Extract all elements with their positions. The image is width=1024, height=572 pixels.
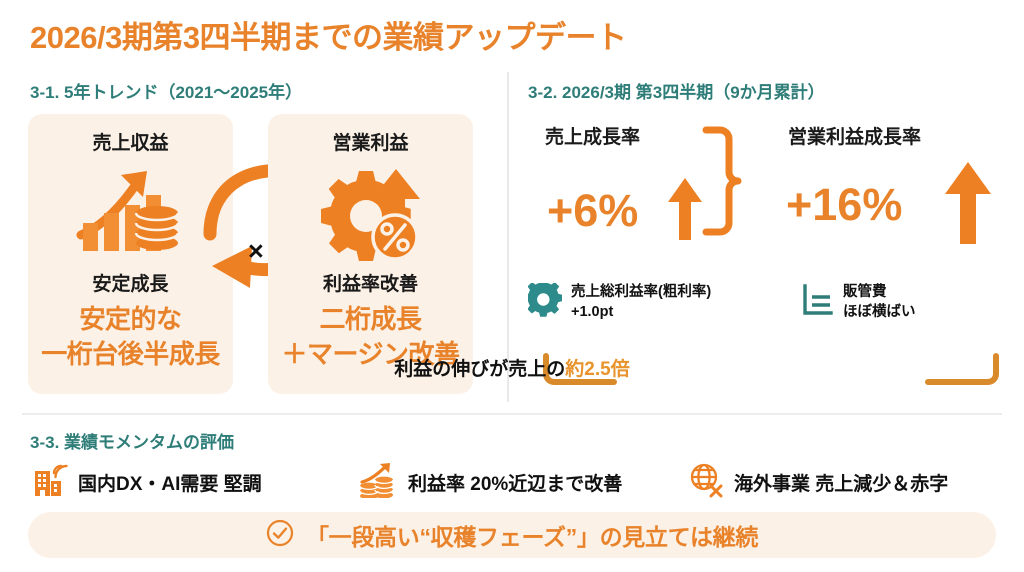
operating-profit-growth-value: +16% — [786, 182, 902, 227]
multiply-operator: × — [248, 238, 264, 265]
card-profit-headline: 二桁成長 ＋マージン改善 — [268, 302, 473, 371]
card-sales-headline-line-2: 一桁台後半成長 — [28, 337, 233, 372]
coins-uptrend-icon — [358, 462, 398, 503]
up-arrow-icon — [945, 162, 991, 249]
page-title: 2026/3期第3四半期までの業績アップデート — [30, 12, 627, 57]
card-profit-headline-line-2: ＋マージン改善 — [268, 337, 473, 372]
detail-gross-margin-text: 売上総利益率(粗利率) +1.0pt — [571, 283, 711, 322]
card-sales-headline: 安定的な 一桁台後半成長 — [28, 302, 233, 371]
detail-sga-line-2: ほぼ横ばい — [843, 303, 916, 323]
momentum-item-margin-text: 利益率 20%近辺まで改善 — [408, 469, 622, 496]
card-profit-headline-line-1: 二桁成長 — [268, 302, 473, 337]
detail-sga-line-1: 販管費 — [843, 283, 916, 303]
card-profit-top-label: 営業利益 — [268, 128, 473, 155]
conclusion-banner-text: 「一段高い“収穫フェーズ”」の見立ては継続 — [306, 518, 758, 552]
globe-cross-icon — [688, 462, 724, 503]
brace-connector — [702, 126, 742, 249]
momentum-item-domestic-text: 国内DX・AI需要 堅調 — [78, 469, 262, 496]
sales-growth-label: 売上成長率 — [545, 122, 640, 149]
gear-percent-uparrow-icon — [268, 158, 473, 268]
horizontal-divider — [22, 413, 1002, 415]
card-profit-mid-label: 利益率改善 — [268, 269, 473, 296]
momentum-item-overseas-text: 海外事業 売上減少＆赤字 — [734, 469, 948, 496]
detail-gross-margin: 売上総利益率(粗利率) +1.0pt — [528, 283, 711, 322]
building-wifi-icon — [32, 462, 68, 503]
slide-root: 2026/3期第3四半期までの業績アップデート 3-1. 5年トレンド（2021… — [0, 0, 1024, 572]
check-circle-icon — [266, 519, 294, 552]
conclusion-banner: 「一段高い“収穫フェーズ”」の見立ては継続 — [28, 512, 996, 558]
section-heading-3-1: 3-1. 5年トレンド（2021〜2025年） — [30, 78, 302, 103]
up-arrow-icon — [668, 178, 702, 245]
momentum-item-margin: 利益率 20%近辺まで改善 — [358, 462, 622, 503]
card-sales-headline-line-1: 安定的な — [28, 302, 233, 337]
detail-gross-margin-line-1: 売上総利益率(粗利率) — [571, 283, 711, 303]
flat-line-chart-icon — [800, 283, 834, 322]
momentum-item-domestic: 国内DX・AI需要 堅調 — [32, 462, 262, 503]
detail-sga: 販管費 ほぼ横ばい — [800, 283, 916, 322]
momentum-item-overseas: 海外事業 売上減少＆赤字 — [688, 462, 948, 503]
card-operating-profit: 営業利益 利益率改善 二桁成長 ＋マージン改善 — [268, 114, 473, 394]
gear-icon — [528, 283, 562, 322]
operating-profit-growth-label: 営業利益成長率 — [788, 122, 921, 149]
detail-sga-text: 販管費 ほぼ横ばい — [843, 283, 916, 322]
vertical-divider — [507, 72, 509, 402]
sales-growth-value: +6% — [547, 188, 638, 233]
detail-gross-margin-line-2: +1.0pt — [571, 303, 711, 323]
section-heading-3-2: 3-2. 2026/3期 第3四半期（9か月累計） — [528, 78, 825, 103]
section-heading-3-3: 3-3. 業績モメンタムの評価 — [30, 428, 234, 453]
summary-bracket-icon — [540, 352, 1002, 392]
